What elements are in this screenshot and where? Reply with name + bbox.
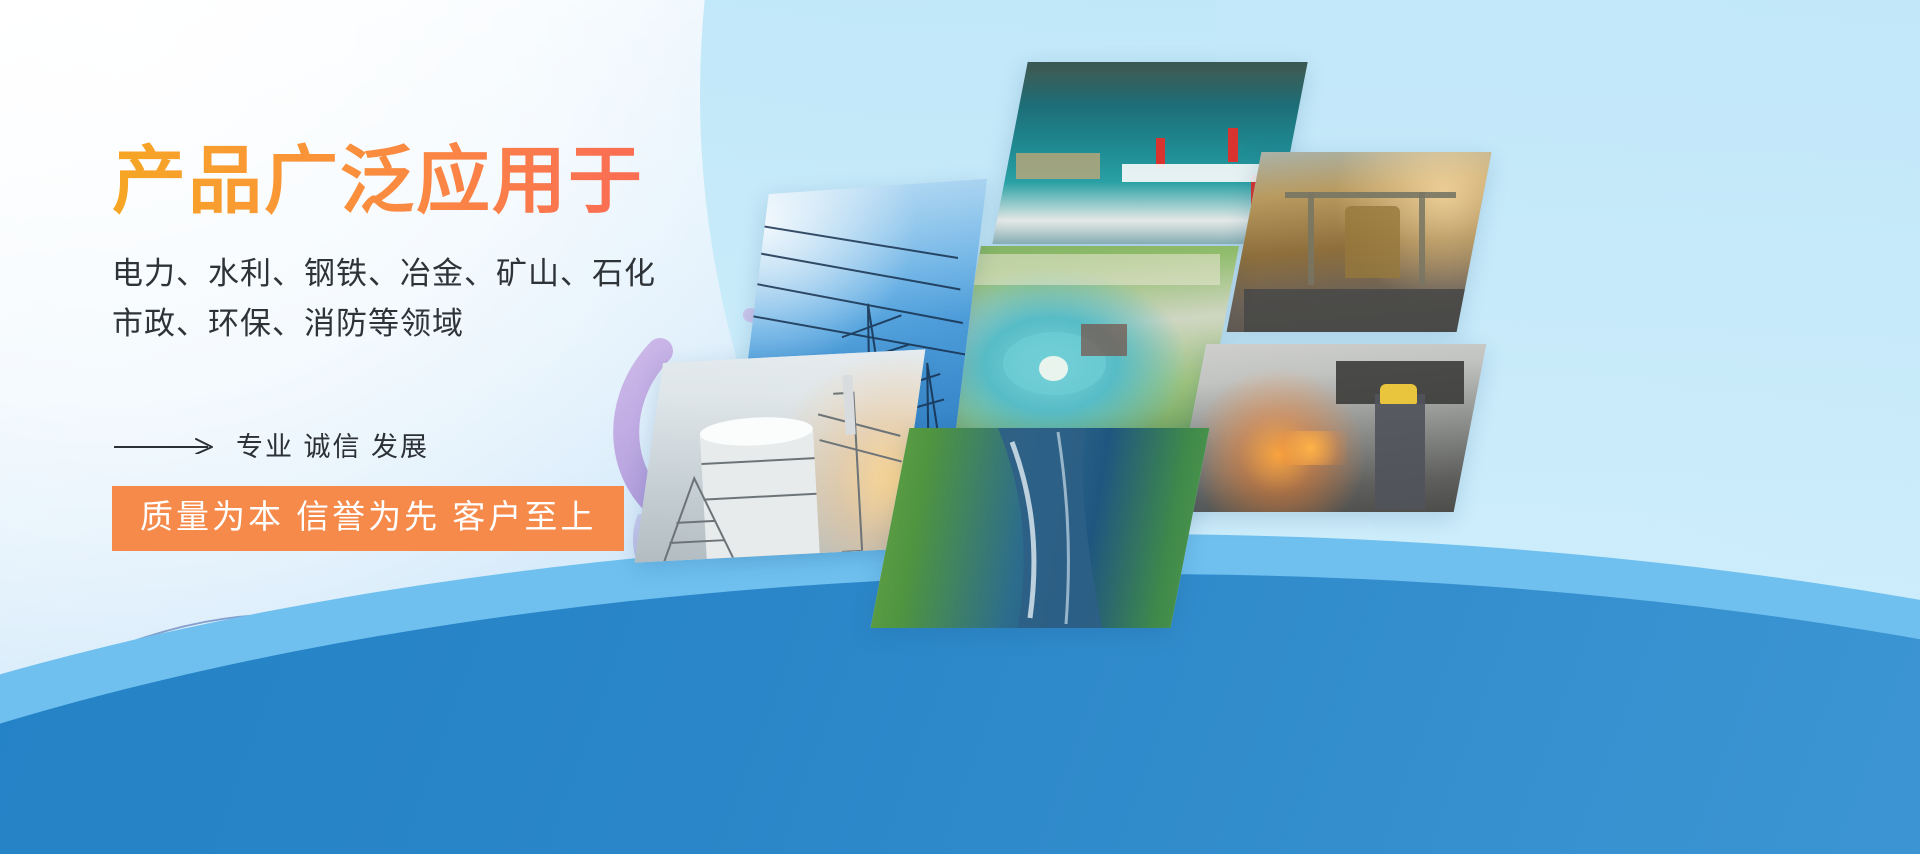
park-detail [962, 246, 1220, 442]
arrow-right-icon [112, 436, 222, 454]
promo-banner: 产品广泛应用于 电力、水利、钢铁、冶金、矿山、石化 市政、环保、消防等领域 专业… [0, 0, 1920, 854]
photo-firefighter[interactable] [1174, 344, 1487, 512]
subtitle-line-1: 电力、水利、钢铁、冶金、矿山、石化 [112, 249, 752, 299]
tagline-row: 专业 诚信 发展 [112, 425, 752, 464]
subtitle-block: 电力、水利、钢铁、冶金、矿山、石化 市政、环保、消防等领域 [112, 249, 752, 349]
subtitle-line-2: 市政、环保、消防等领域 [112, 299, 752, 349]
wave-lineart-decoration [0, 560, 750, 820]
photo-river-forest[interactable] [871, 428, 1210, 628]
river-detail [890, 428, 1190, 628]
banner-copy: 产品广泛应用于 电力、水利、钢铁、冶金、矿山、石化 市政、环保、消防等领域 专业… [112, 140, 752, 551]
photo-steel-plant[interactable] [1227, 152, 1492, 332]
status-badge[interactable]: 质量为本 信誉为先 客户至上 [112, 486, 624, 550]
tagline-text: 专业 诚信 发展 [236, 425, 429, 464]
fire-detail [1190, 344, 1470, 512]
steel-detail [1244, 152, 1474, 332]
page-title: 产品广泛应用于 [112, 140, 752, 223]
